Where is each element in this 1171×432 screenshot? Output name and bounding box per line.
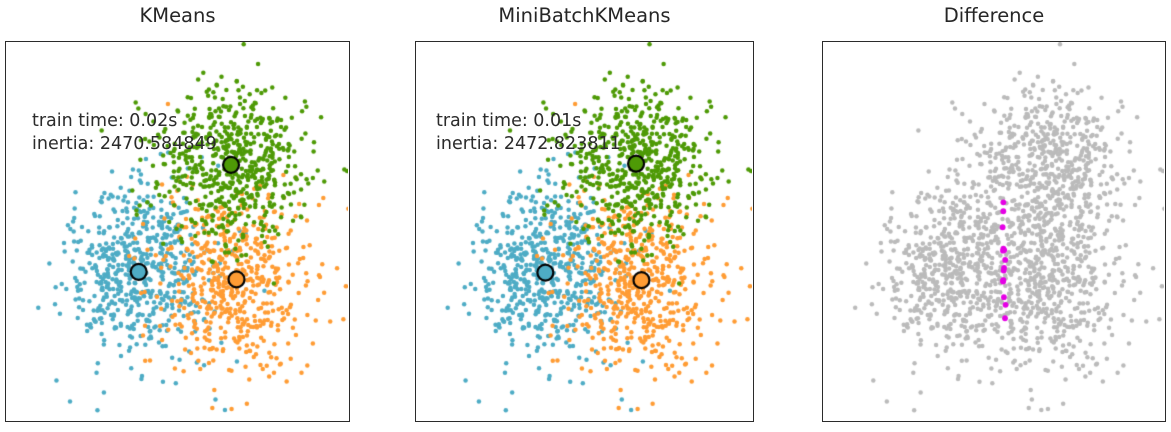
- annotation-minibatchkmeans: train time: 0.01sinertia: 2472.823811: [436, 110, 621, 156]
- annotation-line: inertia: 2470.584849: [32, 133, 217, 156]
- panel-title-kmeans: KMeans: [5, 6, 350, 26]
- axes-kmeans: train time: 0.02sinertia: 2470.584849: [5, 41, 350, 422]
- annotation-line: train time: 0.02s: [32, 110, 217, 133]
- scatter-canvas-difference: [823, 42, 1164, 420]
- axes-difference: [822, 41, 1166, 422]
- panel-kmeans: KMeanstrain time: 0.02sinertia: 2470.584…: [0, 0, 1171, 432]
- scatter-canvas-minibatchkmeans: [416, 42, 752, 420]
- annotation-line: train time: 0.01s: [436, 110, 621, 133]
- clustering-comparison-figure: KMeanstrain time: 0.02sinertia: 2470.584…: [0, 0, 1171, 432]
- panel-minibatchkmeans: MiniBatchKMeanstrain time: 0.01sinertia:…: [0, 0, 1171, 432]
- panel-title-minibatchkmeans: MiniBatchKMeans: [415, 6, 754, 26]
- panel-title-difference: Difference: [822, 6, 1166, 26]
- annotation-line: inertia: 2472.823811: [436, 133, 621, 156]
- axes-minibatchkmeans: train time: 0.01sinertia: 2472.823811: [415, 41, 754, 422]
- annotation-kmeans: train time: 0.02sinertia: 2470.584849: [32, 110, 217, 156]
- scatter-canvas-kmeans: [6, 42, 348, 420]
- panel-difference: Difference: [0, 0, 1171, 432]
